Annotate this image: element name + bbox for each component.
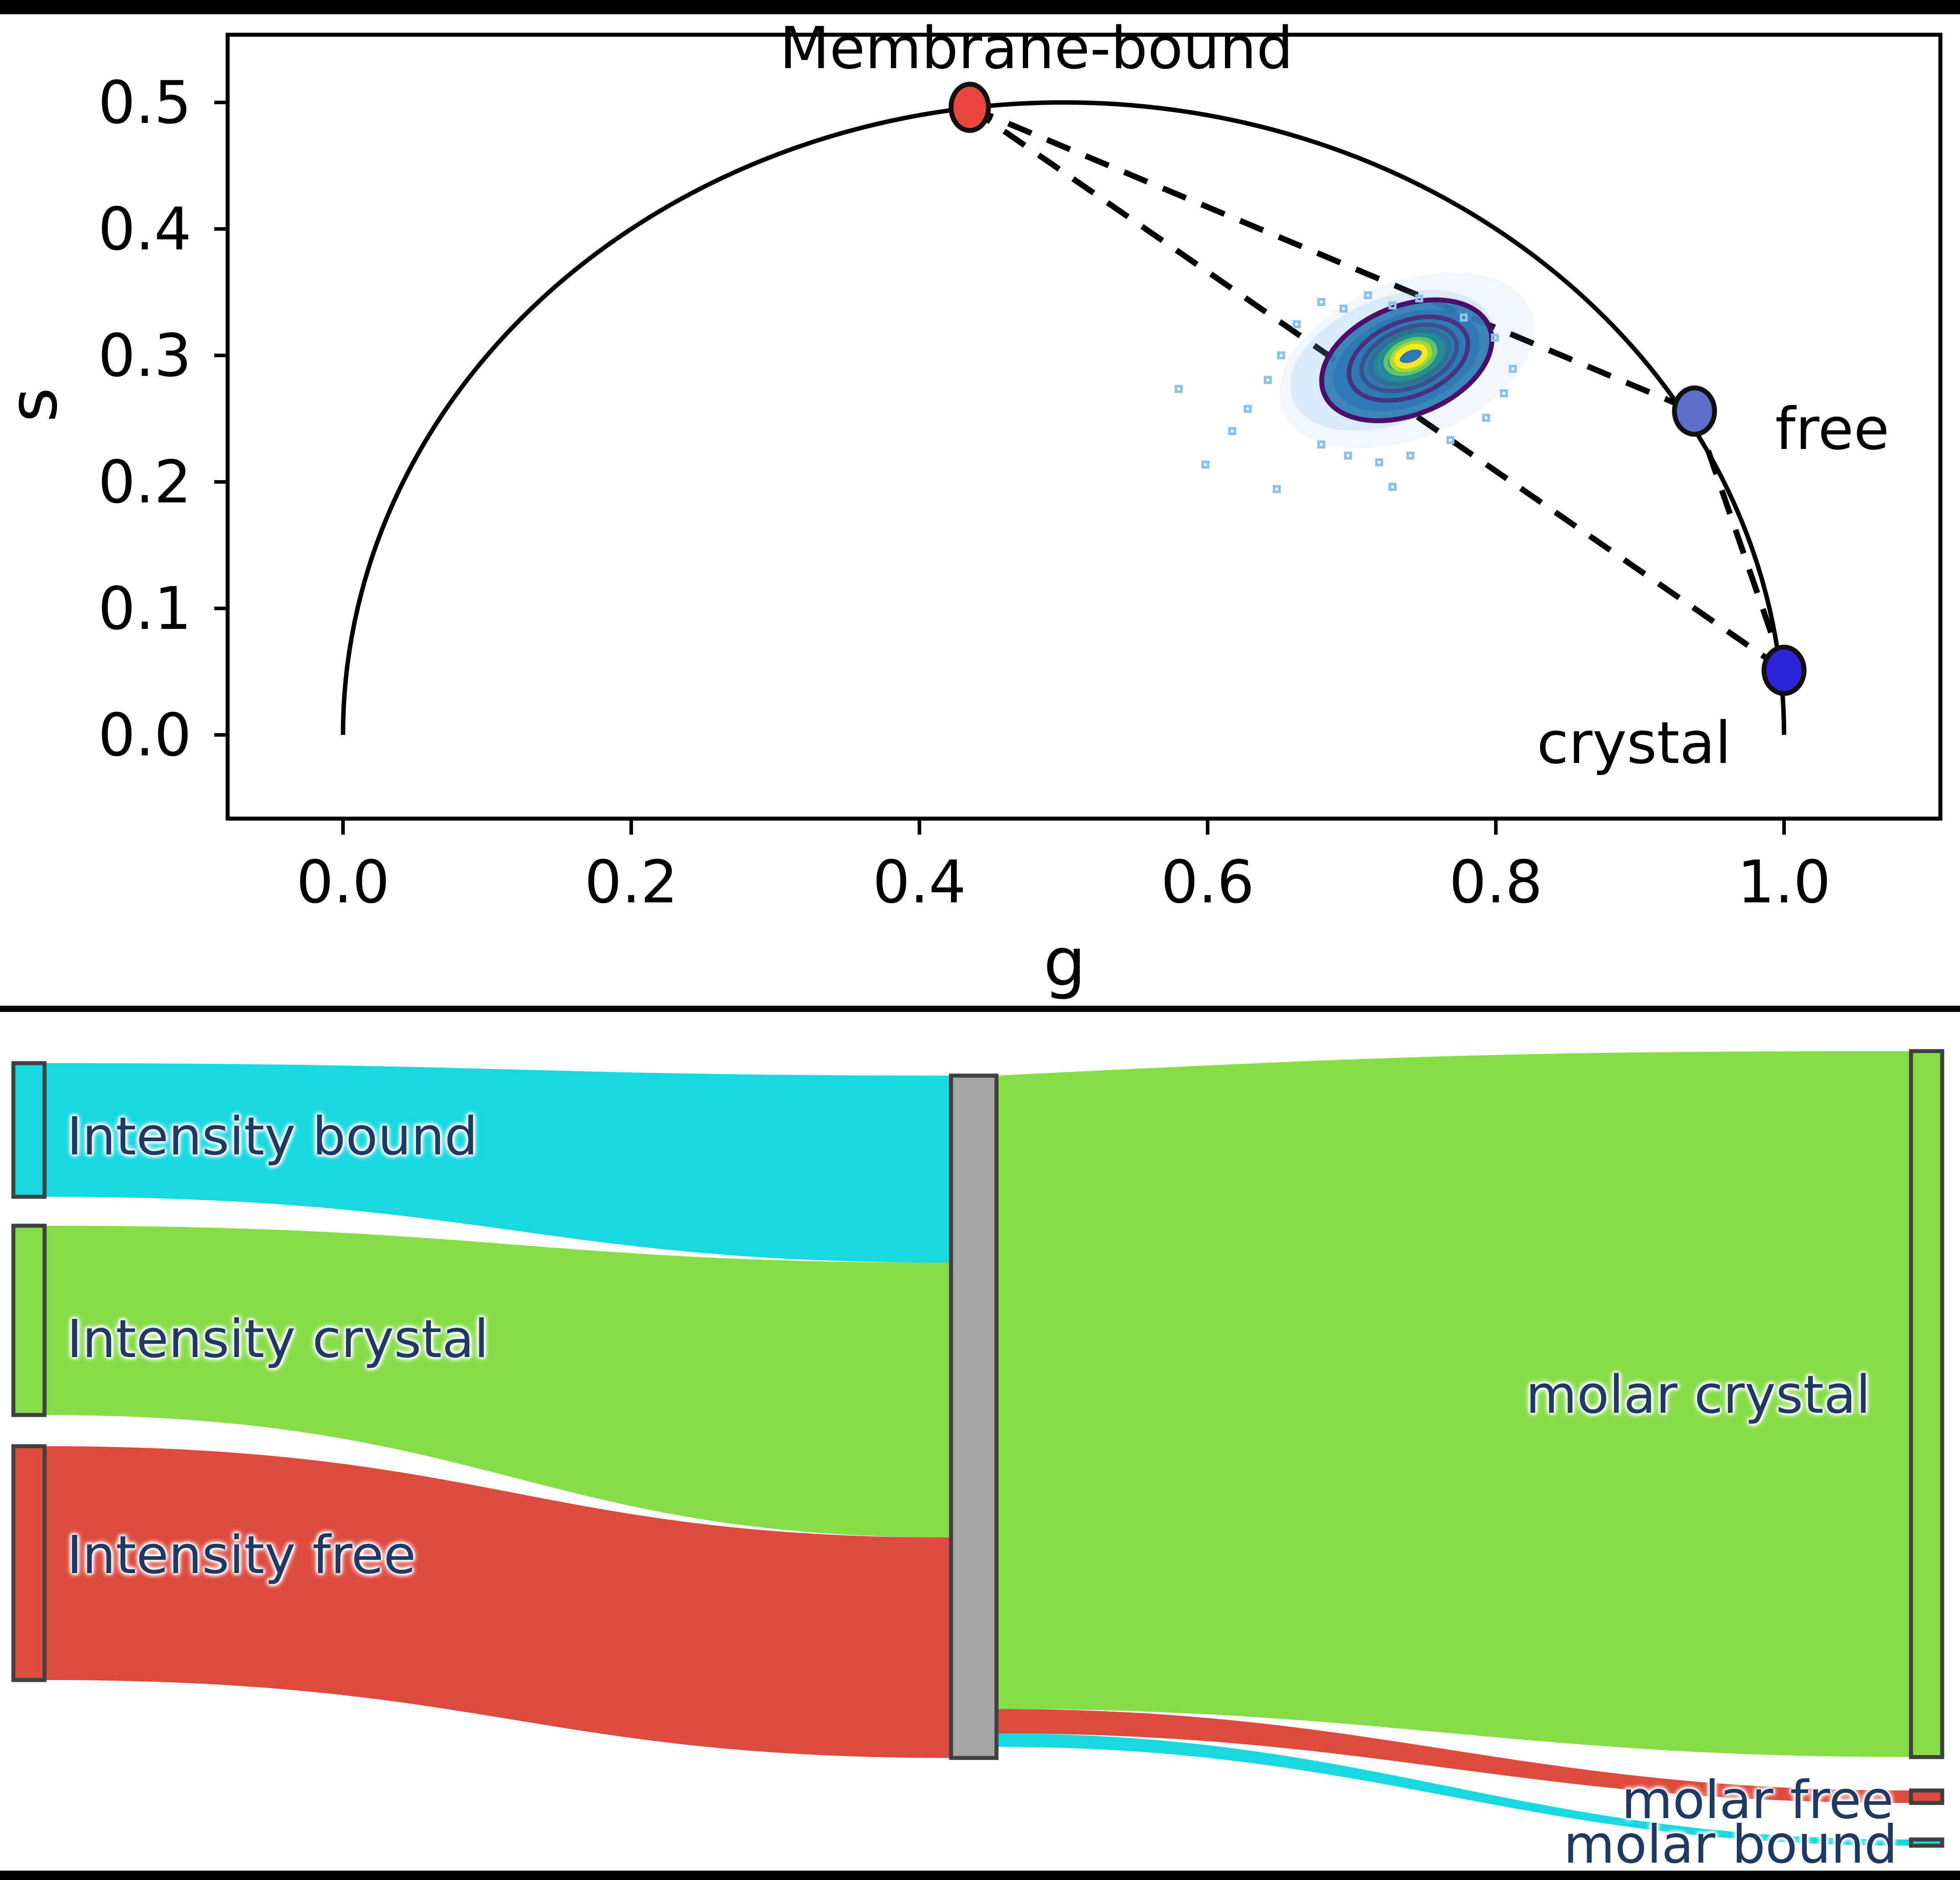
sankey-panel: Intensity bound Intensity crystal Intens… [0,1012,1960,1871]
y-tick-label-4: 0.1 [45,575,192,643]
x-tick-label-2: 0.4 [830,848,1009,917]
y-tick-label-1: 0.4 [45,195,192,264]
node-molar-crystal[interactable] [1911,1051,1942,1757]
panel-separator [0,1006,1960,1012]
label-intensity-free: Intensity free [67,1524,416,1586]
x-tick-label-1: 0.2 [542,848,720,917]
y-axis-title: s [0,331,72,478]
crystal-label: crystal [1537,709,1731,777]
phasor-plot-panel: 0.5 0.4 0.3 0.2 0.1 0.0 s 0.0 0.2 0.4 0.… [0,14,1960,1006]
node-intensity-free[interactable] [13,1446,45,1680]
x-tick-label-4: 0.8 [1407,848,1585,917]
x-axis-title: g [1020,924,1109,1001]
label-molar-crystal: molar crystal [1526,1364,1870,1425]
membrane-bound-marker [951,84,988,130]
membrane-bound-label: Membrane-bound [780,14,1293,82]
label-intensity-bound: Intensity bound [67,1105,478,1167]
x-tick-marks [343,819,1784,835]
y-tick-label-5: 0.0 [45,701,192,770]
x-tick-label-0: 0.0 [254,848,432,917]
bottom-black-band [0,1871,1960,1880]
node-hub[interactable] [951,1076,996,1758]
label-intensity-crystal: Intensity crystal [67,1308,489,1370]
x-tick-label-5: 1.0 [1695,848,1873,917]
free-label: free [1775,395,1889,463]
x-tick-label-3: 0.6 [1119,848,1297,917]
y-tick-label-0: 0.5 [45,69,192,137]
node-intensity-bound[interactable] [13,1063,45,1197]
node-intensity-crystal[interactable] [13,1226,45,1415]
figure-root: 0.5 0.4 0.3 0.2 0.1 0.0 s 0.0 0.2 0.4 0.… [0,0,1960,1880]
free-marker [1674,388,1715,434]
top-black-band [0,0,1960,14]
node-molar-bound[interactable] [1911,1839,1942,1846]
label-molar-bound: molar bound [1564,1814,1898,1875]
node-molar-free[interactable] [1911,1790,1942,1803]
crystal-marker [1764,647,1804,693]
